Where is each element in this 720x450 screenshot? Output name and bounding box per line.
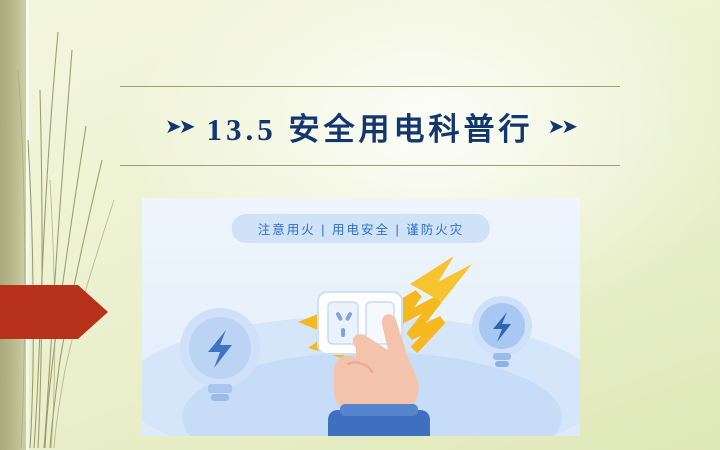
title-block: ➤➤ 13.5 安全用电科普行 ➤➤ bbox=[120, 86, 620, 166]
left-arrows-icon: ➤➤ bbox=[165, 116, 193, 136]
title-rule-bottom bbox=[120, 165, 620, 166]
sleeve-icon bbox=[328, 404, 430, 436]
left-band-highlight bbox=[26, 0, 29, 450]
bulb-right-icon bbox=[472, 296, 532, 367]
page-title: 13.5 安全用电科普行 bbox=[207, 104, 534, 149]
illustration-image: 注意用火 | 用电安全 | 谨防火灾 bbox=[142, 198, 580, 436]
red-arrow-tip bbox=[78, 285, 108, 339]
left-color-band bbox=[0, 0, 26, 450]
right-arrows-icon: ➤➤ bbox=[548, 116, 576, 136]
red-arrow-body bbox=[0, 285, 78, 339]
title-row: ➤➤ 13.5 安全用电科普行 ➤➤ bbox=[120, 87, 620, 165]
slide: ➤➤ 13.5 安全用电科普行 ➤➤ bbox=[0, 0, 720, 450]
red-arrow-banner bbox=[0, 285, 108, 339]
bulb-left-icon bbox=[180, 308, 260, 401]
safety-slogan-banner: 注意用火 | 用电安全 | 谨防火灾 bbox=[232, 214, 490, 243]
